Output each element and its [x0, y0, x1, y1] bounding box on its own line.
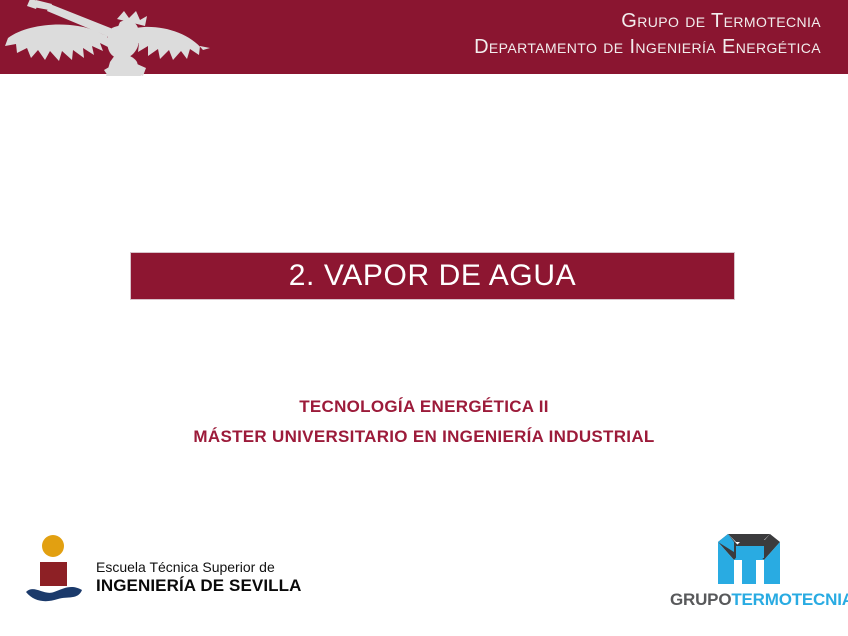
header-line-department: Departamento de Ingeniería Energética: [474, 34, 821, 60]
subtitle-block: TECNOLOGÍA ENERGÉTICA II MÁSTER UNIVERSI…: [0, 392, 848, 453]
page-title: 2. VAPOR DE AGUA: [289, 259, 576, 293]
ets-sevilla-logo: Escuela Técnica Superior de INGENIERÍA D…: [24, 534, 274, 606]
ets-sevilla-wordmark: Escuela Técnica Superior de INGENIERÍA D…: [96, 560, 302, 595]
termotecnia-isometric-m-monogram-icon: [706, 528, 792, 590]
termotecnia-wordmark: GRUPOTERMOTECNIA: [670, 590, 840, 610]
ets-wordmark-line2: INGENIERÍA DE SEVILLA: [96, 576, 302, 595]
presentation-slide: Grupo de Termotecnia Departamento de Ing…: [0, 0, 848, 636]
header-line-group: Grupo de Termotecnia: [474, 8, 821, 34]
termotecnia-wordmark-grupo: GRUPO: [670, 590, 731, 609]
winged-figure-with-trumpet-icon: [0, 0, 212, 76]
termotecnia-wordmark-termotecnia: TERMOTECNIA: [731, 590, 848, 609]
slide-header-band: Grupo de Termotecnia Departamento de Ing…: [0, 0, 848, 74]
slide-title-bar: 2. VAPOR DE AGUA: [130, 252, 735, 300]
grupo-termotecnia-logo: GRUPOTERMOTECNIA: [670, 528, 840, 614]
subtitle-course: TECNOLOGÍA ENERGÉTICA II: [0, 392, 848, 422]
ets-wordmark-line1: Escuela Técnica Superior de: [96, 560, 302, 576]
subtitle-program: MÁSTER UNIVERSITARIO EN INGENIERÍA INDUS…: [0, 422, 848, 452]
header-title-block: Grupo de Termotecnia Departamento de Ing…: [474, 8, 821, 60]
ets-sevilla-figure-icon: [24, 534, 86, 602]
